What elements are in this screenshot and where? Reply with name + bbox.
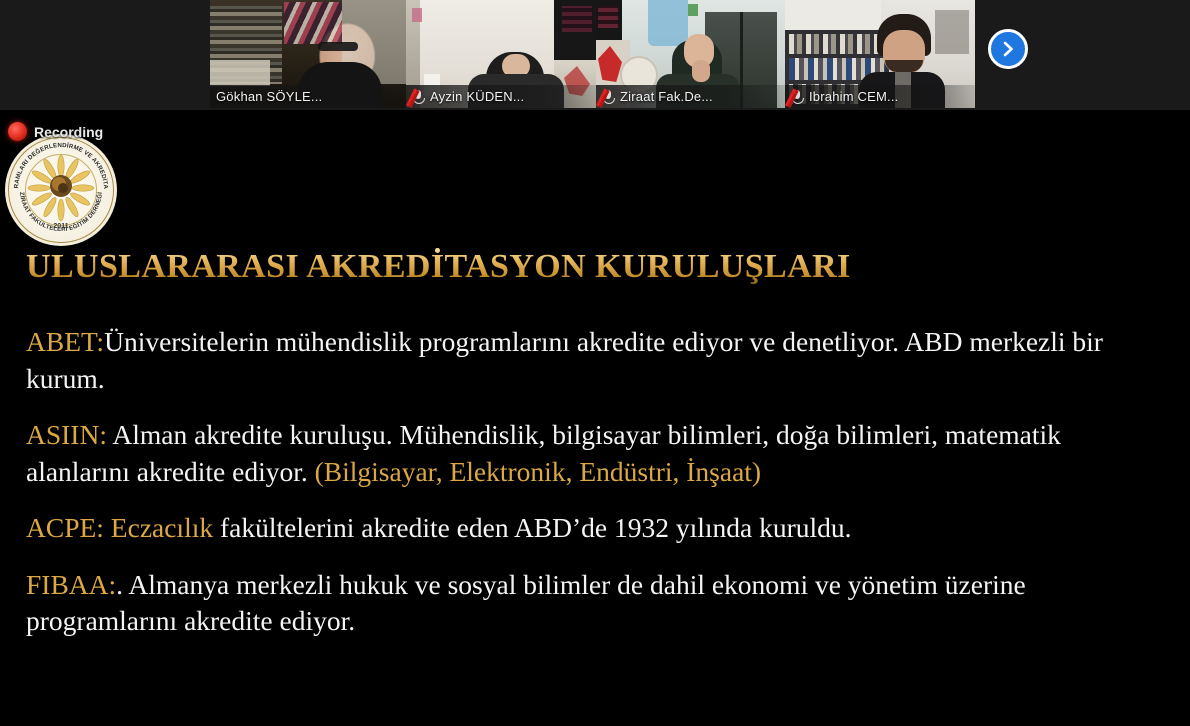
participant-tile[interactable]: Ziraat Fak.De... bbox=[596, 0, 785, 108]
paragraph-abet: ABET:Üniversitelerin mühendislik program… bbox=[26, 324, 1166, 397]
participant-name-strip: Ibrahim CEM... bbox=[785, 85, 975, 108]
record-dot-icon bbox=[8, 122, 27, 141]
acronym-acpe: ACPE: Eczacılık bbox=[26, 512, 213, 543]
logo-year: 2011 bbox=[53, 223, 68, 230]
paragraph-asiin-highlight: (Bilgisayar, Elektronik, Endüstri, İnşaa… bbox=[315, 456, 761, 487]
acronym-fibaa: FIBAA: bbox=[26, 569, 116, 600]
zidek-association-logo: PROGRAMLARI DEĞERLENDİRME VE AKREDİTASYO… bbox=[5, 134, 117, 246]
microphone-muted-icon bbox=[791, 89, 804, 105]
next-participants-button[interactable] bbox=[988, 29, 1028, 69]
acronym-asiin: ASIIN: bbox=[26, 419, 107, 450]
participant-name: Ayzin KÜDEN... bbox=[430, 89, 524, 104]
participant-name-strip: Ziraat Fak.De... bbox=[596, 85, 785, 108]
acronym-abet: ABET: bbox=[26, 326, 104, 357]
paragraph-fibaa: FIBAA:. Almanya merkezli hukuk ve sosyal… bbox=[26, 567, 1166, 640]
recording-indicator: Recording bbox=[8, 122, 103, 141]
slide-title: ULUSLARARASI AKREDİTASYON KURULUŞLARI bbox=[26, 248, 1166, 286]
slide-content: ULUSLARARASI AKREDİTASYON KURULUŞLARI AB… bbox=[26, 248, 1166, 640]
microphone-muted-icon bbox=[602, 89, 615, 105]
participant-name: Ziraat Fak.De... bbox=[620, 89, 713, 104]
logo-artwork: PROGRAMLARI DEĞERLENDİRME VE AKREDİTASYO… bbox=[5, 134, 117, 246]
participant-name: Gökhan SÖYLE... bbox=[216, 89, 322, 104]
video-thumbnail-strip: Gökhan SÖYLE... Ayzin KÜDEN... bbox=[0, 0, 1190, 110]
paragraph-asiin: ASIIN: Alman akredite kuruluşu. Mühendis… bbox=[26, 417, 1166, 490]
participant-name-strip: Ayzin KÜDEN... bbox=[406, 85, 596, 108]
participant-tile[interactable]: Gökhan SÖYLE... bbox=[210, 0, 406, 108]
paragraph-acpe: ACPE: Eczacılık fakültelerini akredite e… bbox=[26, 510, 1166, 547]
chevron-right-icon bbox=[999, 40, 1017, 58]
participant-name-strip: Gökhan SÖYLE... bbox=[210, 85, 406, 108]
participant-tile[interactable]: Ibrahim CEM... bbox=[785, 0, 975, 108]
paragraph-fibaa-text: . Almanya merkezli hukuk ve sosyal bilim… bbox=[26, 569, 1026, 637]
participant-name: Ibrahim CEM... bbox=[809, 89, 898, 104]
paragraph-acpe-text: fakültelerini akredite eden ABD’de 1932 … bbox=[213, 512, 851, 543]
microphone-muted-icon bbox=[412, 89, 425, 105]
participant-tile[interactable]: Ayzin KÜDEN... bbox=[406, 0, 596, 108]
paragraph-abet-text: Üniversitelerin mühendislik programların… bbox=[26, 326, 1103, 394]
presentation-slide: Recording bbox=[0, 110, 1190, 726]
recording-label: Recording bbox=[34, 124, 103, 140]
